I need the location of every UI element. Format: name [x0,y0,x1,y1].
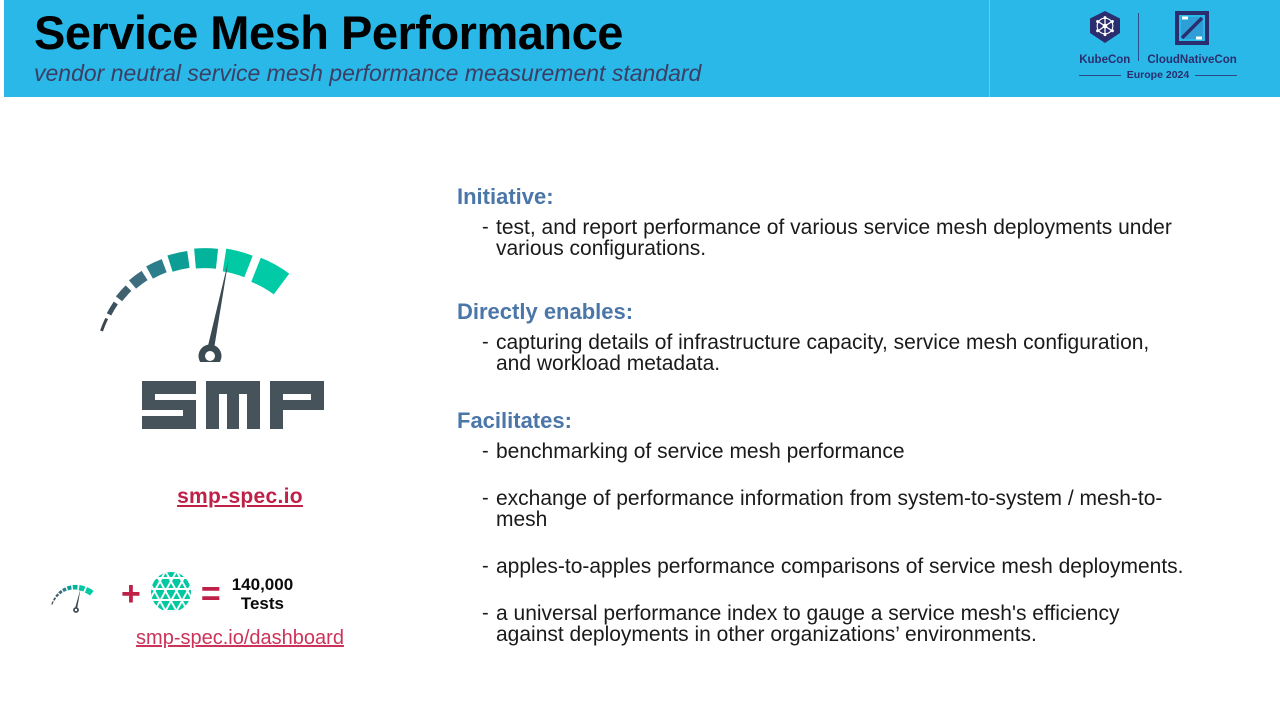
cncf-square-icon [1173,9,1211,52]
tests-equation-row: + [50,565,370,623]
cloudnativecon-logo-group: CloudNativeCon [1139,9,1244,66]
bullet-text: exchange of performance information from… [496,488,1186,530]
event-rule-left [1079,75,1121,76]
list-item: - capturing details of infrastructure ca… [457,332,1247,374]
list-item: - apples-to-apples performance compariso… [457,556,1247,577]
bullet-marker: - [457,332,496,353]
bullet-text: a universal performance index to gauge a… [496,603,1186,645]
conference-event-label: Europe 2024 [1127,69,1189,81]
meshery-mesh-icon [150,571,192,618]
bullet-marker: - [457,441,496,462]
list-item: - test, and report performance of variou… [457,217,1247,259]
conference-logo: KubeCon CloudNativeCon Europe 2024 [1058,8,1258,90]
tests-count-block: 140,000 Tests [232,575,293,613]
smp-wordmark [40,375,440,440]
content-column: Initiative: - test, and report performan… [457,183,1247,671]
bullet-marker: - [457,217,496,238]
smp-gauge-icon [92,212,382,362]
section-heading: Initiative: [457,183,1247,211]
kubecon-logo-group: KubeCon [1071,9,1138,66]
bullet-marker: - [457,603,496,624]
bullet-list: - test, and report performance of variou… [457,217,1247,259]
tests-count-label: Tests [241,594,284,613]
dashboard-link[interactable]: smp-spec.io/dashboard [40,627,440,650]
event-rule-right [1195,75,1237,76]
kubecon-label: KubeCon [1079,54,1130,66]
kubernetes-helm-icon [1085,9,1125,52]
cloudnativecon-label: CloudNativeCon [1147,54,1236,66]
smp-spec-link[interactable]: smp-spec.io [40,485,440,509]
bullet-text: apples-to-apples performance comparisons… [496,556,1184,577]
plus-operator: + [121,577,141,611]
section-initiative: Initiative: - test, and report performan… [457,183,1247,259]
page-subtitle: vendor neutral service mesh performance … [34,58,701,88]
left-branding-column: smp-spec.io [40,200,440,670]
bullet-marker: - [457,556,496,577]
list-item: - exchange of performance information fr… [457,488,1247,530]
tests-count-number: 140,000 [232,575,293,594]
section-heading: Directly enables: [457,298,1247,326]
list-item: - benchmarking of service mesh performan… [457,441,1247,462]
equals-operator: = [201,577,221,611]
bullet-text: capturing details of infrastructure capa… [496,332,1186,374]
logo-separator [1138,13,1139,61]
list-item: - a universal performance index to gauge… [457,603,1247,645]
section-facilitates: Facilitates: - benchmarking of service m… [457,407,1247,645]
conference-logo-row: KubeCon CloudNativeCon [1058,8,1258,66]
small-gauge-icon [50,571,112,618]
page-title: Service Mesh Performance [34,4,701,62]
spacer [457,267,1247,298]
bullet-text: test, and report performance of various … [496,217,1186,259]
header-divider [989,0,990,97]
section-heading: Facilitates: [457,407,1247,435]
conference-event-row: Europe 2024 [1058,69,1258,81]
bullet-list: - capturing details of infrastructure ca… [457,332,1247,374]
section-directly-enables: Directly enables: - capturing details of… [457,298,1247,374]
spacer [457,382,1247,407]
bullet-marker: - [457,488,496,509]
bullet-list: - benchmarking of service mesh performan… [457,441,1247,645]
title-block: Service Mesh Performance vendor neutral … [34,4,701,88]
bullet-text: benchmarking of service mesh performance [496,441,905,462]
